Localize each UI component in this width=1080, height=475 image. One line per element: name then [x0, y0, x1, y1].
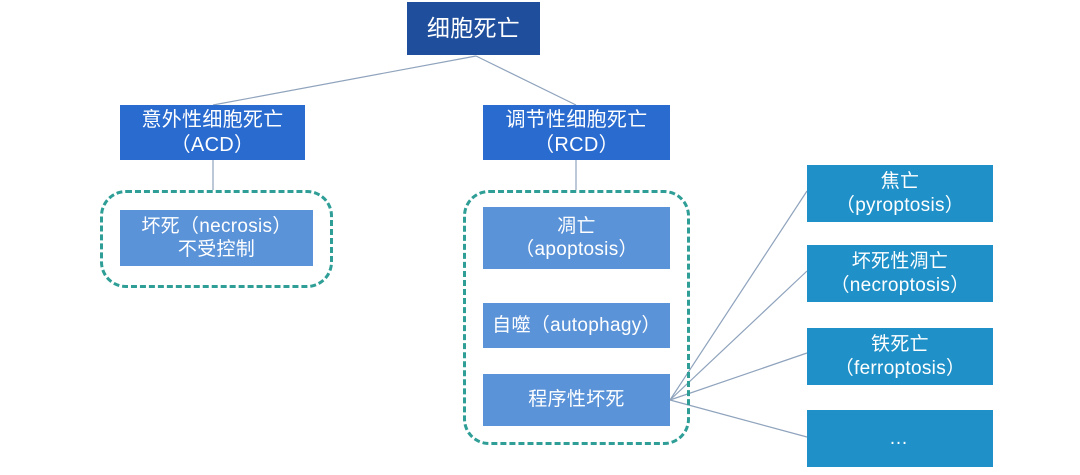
edge-prognecro-to-pyroptosis — [670, 191, 807, 400]
node-necrosis-note: 不受控制 — [178, 238, 255, 261]
edge-root-to-rcd — [476, 56, 576, 105]
node-more-types[interactable]: … — [807, 410, 993, 467]
node-autophagy[interactable]: 自噬（autophagy） — [483, 303, 670, 348]
node-cell-death-root-label: 细胞死亡 — [427, 14, 520, 42]
node-more-types-label: … — [889, 427, 911, 450]
node-ferroptosis-en: （ferroptosis） — [835, 357, 966, 380]
node-regulated-cell-death-name: 调节性细胞死亡 — [505, 108, 647, 132]
node-necroptosis-name: 坏死性凋亡 — [852, 250, 949, 273]
node-apoptosis[interactable]: 凋亡 （apoptosis） — [483, 207, 670, 269]
node-ferroptosis-name: 铁死亡 — [871, 333, 929, 356]
node-necrosis[interactable]: 坏死（necrosis） 不受控制 — [120, 210, 313, 266]
node-accidental-cell-death-name: 意外性细胞死亡 — [141, 108, 283, 132]
edge-prognecro-to-necroptosis — [670, 271, 807, 400]
node-regulated-cell-death-abbr: （RCD） — [534, 133, 619, 157]
node-necrosis-name: 坏死（necrosis） — [141, 215, 291, 238]
node-regulated-cell-death[interactable]: 调节性细胞死亡 （RCD） — [483, 105, 670, 160]
edge-root-to-acd — [213, 56, 476, 105]
node-apoptosis-name: 凋亡 — [557, 215, 596, 238]
node-ferroptosis[interactable]: 铁死亡 （ferroptosis） — [807, 328, 993, 385]
node-accidental-cell-death-abbr: （ACD） — [171, 133, 255, 157]
edge-prognecro-to-more — [670, 400, 807, 437]
node-accidental-cell-death[interactable]: 意外性细胞死亡 （ACD） — [120, 105, 305, 160]
node-necroptosis-en: （necroptosis） — [830, 274, 969, 297]
node-pyroptosis-name: 焦亡 — [881, 170, 920, 193]
node-pyroptosis-en: （pyroptosis） — [836, 194, 964, 217]
node-autophagy-name: 自噬（autophagy） — [492, 314, 661, 337]
edge-prognecro-to-ferroptosis — [670, 353, 807, 400]
node-programmed-necrosis[interactable]: 程序性坏死 — [483, 374, 670, 426]
node-cell-death-root[interactable]: 细胞死亡 — [407, 2, 540, 55]
diagram-canvas: 细胞死亡 意外性细胞死亡 （ACD） 调节性细胞死亡 （RCD） 坏死（necr… — [0, 0, 1080, 475]
node-apoptosis-en: （apoptosis） — [515, 238, 638, 261]
node-pyroptosis[interactable]: 焦亡 （pyroptosis） — [807, 165, 993, 222]
node-programmed-necrosis-name: 程序性坏死 — [528, 388, 625, 411]
node-necroptosis[interactable]: 坏死性凋亡 （necroptosis） — [807, 245, 993, 302]
